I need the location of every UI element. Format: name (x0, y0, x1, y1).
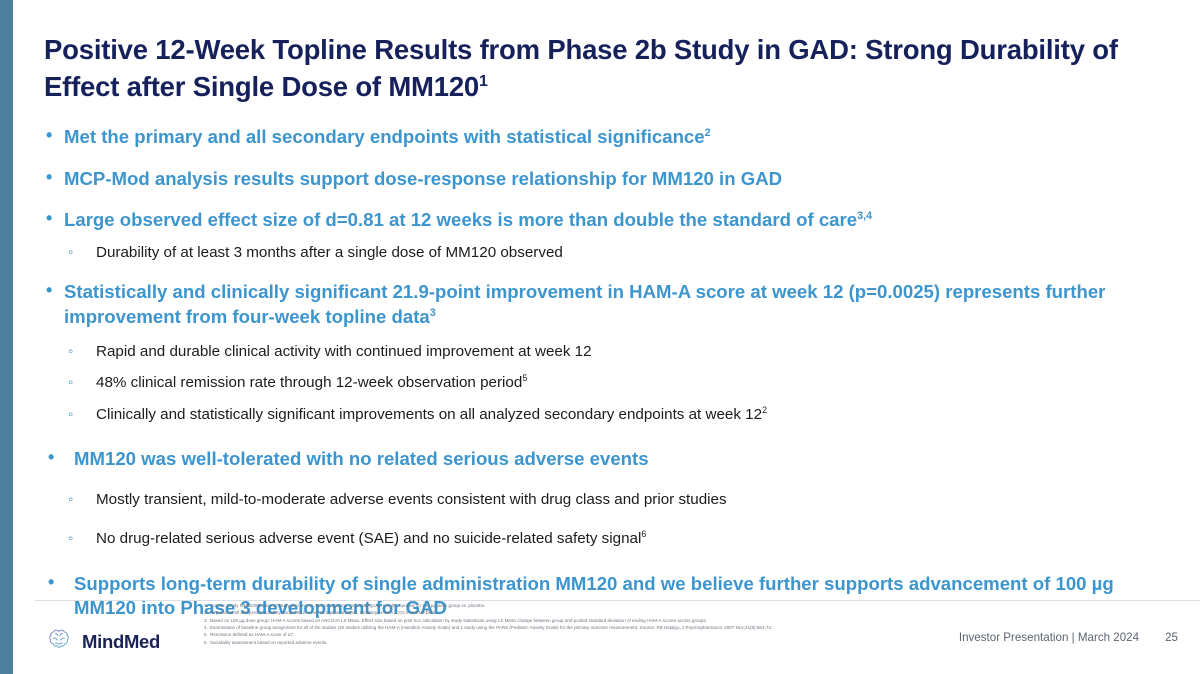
sub-bullet-item: Durability of at least 3 months after a … (44, 243, 1180, 263)
footnote-row: 5.Remission defined as HAM-A score of ≤7… (196, 631, 896, 638)
bullet-item: MCP-Mod analysis results support dose-re… (44, 167, 1180, 192)
footnote-number: 4. (196, 624, 210, 631)
footnote-text: Based on 100 µg dose group; HAM-A scores… (210, 617, 896, 624)
footnote-text: Remission defined as HAM-A score of ≤7. (210, 631, 896, 638)
slide-content: Positive 12-Week Topline Results from Ph… (44, 0, 1180, 621)
footnote-number: 6. (196, 639, 210, 646)
presentation-label: Investor Presentation | March 2024 (959, 631, 1139, 644)
sub-bullet-item: 48% clinical remission rate through 12-w… (44, 373, 1180, 393)
bullet-item: Statistically and clinically significant… (44, 280, 1180, 329)
left-accent-bar (0, 0, 13, 674)
footnote-number: 5. (196, 631, 210, 638)
sub-bullet-item: Rapid and durable clinical activity with… (44, 342, 1180, 362)
footnote-number: 1. (196, 602, 210, 609)
page-number: 25 (1165, 631, 1178, 644)
footnote-number: 2. (196, 609, 210, 616)
footnote-text: Represents all analyzed secondary endpoi… (210, 609, 896, 616)
footnote-text: Suicidality assessment based on reported… (210, 639, 896, 646)
footnote-text: Source: Study MMED008 internal study doc… (210, 602, 896, 609)
bullet-item: MM120 was well-tolerated with no related… (44, 447, 1180, 472)
bullet-item: Large observed effect size of d=0.81 at … (44, 208, 1180, 233)
bullet-item: Met the primary and all secondary endpoi… (44, 125, 1180, 150)
logo-wordmark: MindMed (82, 631, 160, 653)
mindmed-logo: MindMed (45, 625, 160, 658)
brain-icon (45, 625, 73, 658)
slide-root: Positive 12-Week Topline Results from Ph… (0, 0, 1200, 674)
footnote-text: Examination of baseline group assignment… (210, 624, 896, 631)
page-title: Positive 12-Week Topline Results from Ph… (44, 0, 1159, 105)
footnote-row: 3.Based on 100 µg dose group; HAM-A scor… (196, 617, 896, 624)
sub-bullet-item: No drug-related serious adverse event (S… (44, 529, 1180, 549)
sub-bullet-item: Mostly transient, mild-to-moderate adver… (44, 490, 1180, 510)
footnote-row: 2.Represents all analyzed secondary endp… (196, 609, 896, 616)
footnote-row: 6.Suicidality assessment based on report… (196, 639, 896, 646)
footnote-row: 4.Examination of baseline group assignme… (196, 624, 896, 631)
footer-divider (35, 600, 1200, 601)
footnote-row: 1.Source: Study MMED008 internal study d… (196, 602, 896, 609)
footnote-number: 3. (196, 617, 210, 624)
footnote-list: 1.Source: Study MMED008 internal study d… (196, 602, 896, 646)
bullet-list: Met the primary and all secondary endpoi… (44, 125, 1180, 621)
footer-meta: Investor Presentation | March 2024 25 (959, 631, 1178, 644)
sub-bullet-item: Clinically and statistically significant… (44, 405, 1180, 425)
